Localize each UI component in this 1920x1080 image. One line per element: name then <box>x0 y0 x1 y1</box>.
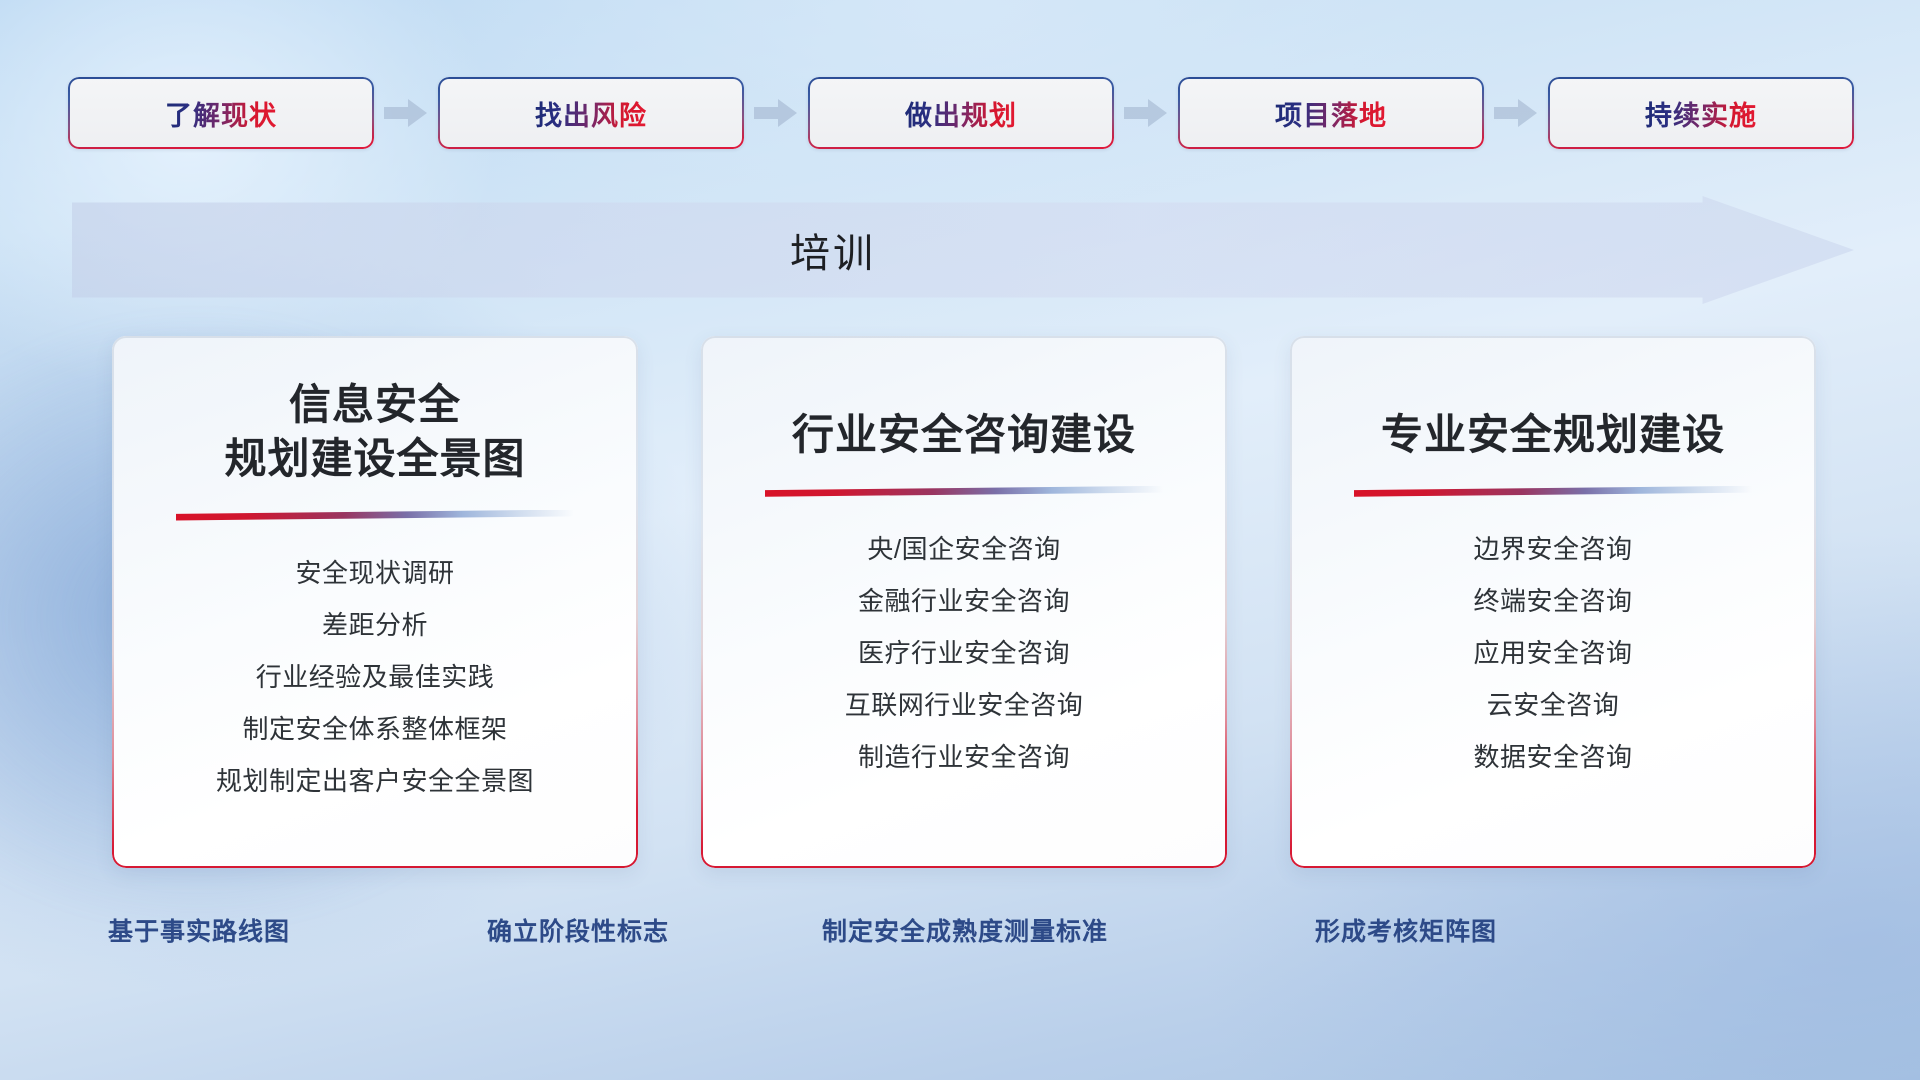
list-item: 安全现状调研 <box>295 560 454 586</box>
arrow-right-icon <box>1494 97 1538 129</box>
card-title: 专业安全规划建设 <box>1290 408 1816 462</box>
list-item: 金融行业安全咨询 <box>858 588 1070 614</box>
card-list: 边界安全咨询 终端安全咨询 应用安全咨询 云安全咨询 数据安全咨询 <box>1290 536 1816 770</box>
step-label: 做出规划 <box>905 94 1017 133</box>
list-item: 医疗行业安全咨询 <box>858 640 1070 666</box>
step-label: 项目落地 <box>1275 94 1387 133</box>
step-box-5[interactable]: 持续实施 <box>1548 77 1854 149</box>
arrow-right-icon <box>384 97 428 129</box>
step-box-1[interactable]: 了解现状 <box>68 77 374 149</box>
bottom-label-row: 基于事实路线图 确立阶段性标志 制定安全成熟度测量标准 形成考核矩阵图 <box>0 912 1920 958</box>
card-title-line: 规划建设全景图 <box>112 432 638 486</box>
list-item: 数据安全咨询 <box>1473 744 1632 770</box>
banner-title: 培训 <box>72 196 1594 304</box>
bottom-label-4: 形成考核矩阵图 <box>1315 912 1497 948</box>
card-divider <box>701 486 1227 502</box>
list-item: 差距分析 <box>322 612 428 638</box>
step-label: 持续实施 <box>1645 94 1757 133</box>
card-1[interactable]: 信息安全 规划建设全景图 安全现状调研 差距分析 行业经验及最佳实践 制定安全体… <box>112 336 638 868</box>
list-item: 央/国企安全咨询 <box>867 536 1060 562</box>
card-title-line: 行业安全咨询建设 <box>701 408 1227 462</box>
list-item: 终端安全咨询 <box>1473 588 1632 614</box>
training-banner: 培训 <box>72 196 1854 304</box>
process-step-row: 了解现状 找出风险 做出规划 项目落地 持续实施 <box>68 76 1854 150</box>
step-box-2[interactable]: 找出风险 <box>438 77 744 149</box>
card-2[interactable]: 行业安全咨询建设 央/国企安全咨询 金融行业安全咨询 医疗行业安全咨询 互联网行… <box>701 336 1227 868</box>
card-divider <box>112 510 638 526</box>
bottom-label-2: 确立阶段性标志 <box>487 912 669 948</box>
list-item: 应用安全咨询 <box>1473 640 1632 666</box>
bottom-label-3: 制定安全成熟度测量标准 <box>822 912 1108 948</box>
list-item: 边界安全咨询 <box>1473 536 1632 562</box>
arrow-right-icon <box>1124 97 1168 129</box>
card-list: 央/国企安全咨询 金融行业安全咨询 医疗行业安全咨询 互联网行业安全咨询 制造行… <box>701 536 1227 770</box>
card-list: 安全现状调研 差距分析 行业经验及最佳实践 制定安全体系整体框架 规划制定出客户… <box>112 560 638 794</box>
step-box-3[interactable]: 做出规划 <box>808 77 1114 149</box>
step-label: 了解现状 <box>165 94 277 133</box>
bottom-label-1: 基于事实路线图 <box>108 912 290 948</box>
card-title-line: 信息安全 <box>112 378 638 432</box>
list-item: 行业经验及最佳实践 <box>256 664 495 690</box>
card-title: 行业安全咨询建设 <box>701 408 1227 462</box>
arrow-right-icon <box>754 97 798 129</box>
step-box-4[interactable]: 项目落地 <box>1178 77 1484 149</box>
card-divider <box>1290 486 1816 502</box>
card-3[interactable]: 专业安全规划建设 边界安全咨询 终端安全咨询 应用安全咨询 云安全咨询 数据安全… <box>1290 336 1816 868</box>
list-item: 制造行业安全咨询 <box>858 744 1070 770</box>
step-label: 找出风险 <box>535 94 647 133</box>
list-item: 互联网行业安全咨询 <box>845 692 1084 718</box>
card-title-line: 专业安全规划建设 <box>1290 408 1816 462</box>
card-row: 信息安全 规划建设全景图 安全现状调研 差距分析 行业经验及最佳实践 制定安全体… <box>112 336 1816 868</box>
list-item: 云安全咨询 <box>1487 692 1620 718</box>
list-item: 制定安全体系整体框架 <box>242 716 507 742</box>
card-title: 信息安全 规划建设全景图 <box>112 378 638 486</box>
list-item: 规划制定出客户安全全景图 <box>216 768 534 794</box>
